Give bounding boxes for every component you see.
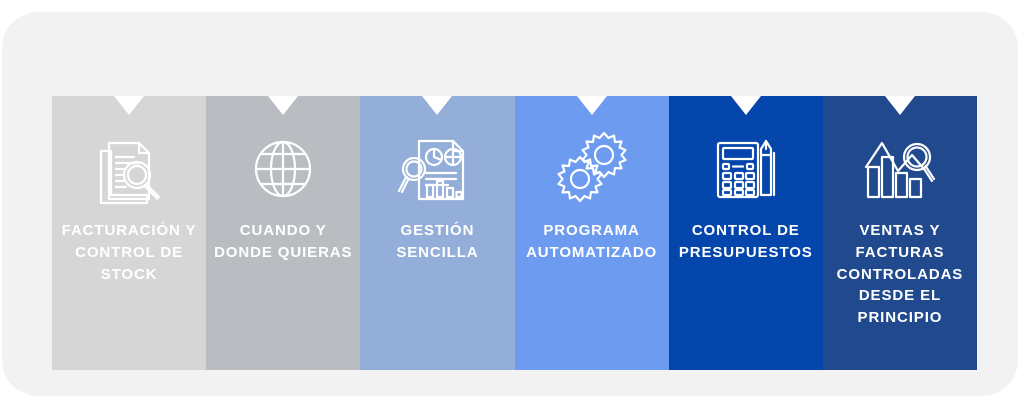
documents-magnifier-icon [86, 126, 172, 212]
infographic-card: FACTURACIÓN Y CONTROL DE STOCK CUANDO Y … [2, 12, 1018, 396]
globe-icon [240, 126, 326, 212]
feature-column-programa-automatizado[interactable]: PROGRAMA AUTOMATIZADO [515, 96, 669, 370]
column-notch [731, 96, 761, 115]
feature-label: VENTAS Y FACTURAS CONTROLADAS DESDE EL P… [823, 220, 977, 329]
feature-column-control-presupuestos[interactable]: CONTROL DE PRESUPUESTOS [669, 96, 823, 370]
calculator-pen-icon [703, 126, 789, 212]
feature-column-ventas-facturas[interactable]: VENTAS Y FACTURAS CONTROLADAS DESDE EL P… [823, 96, 977, 370]
column-notch [114, 96, 144, 115]
gears-icon [549, 126, 635, 212]
infographic-page: FACTURACIÓN Y CONTROL DE STOCK CUANDO Y … [0, 0, 1022, 419]
column-notch [885, 96, 915, 115]
feature-label: PROGRAMA AUTOMATIZADO [515, 220, 669, 264]
feature-label: FACTURACIÓN Y CONTROL DE STOCK [52, 220, 206, 285]
bar-chart-magnifier-icon [857, 126, 943, 212]
column-notch [577, 96, 607, 115]
feature-column-cuando-donde[interactable]: CUANDO Y DONDE QUIERAS [206, 96, 360, 370]
feature-label: CONTROL DE PRESUPUESTOS [669, 220, 823, 264]
column-notch [422, 96, 452, 115]
report-magnifier-icon [394, 126, 480, 212]
feature-column-facturacion[interactable]: FACTURACIÓN Y CONTROL DE STOCK [52, 96, 206, 370]
column-notch [268, 96, 298, 115]
feature-label: GESTIÓN SENCILLA [360, 220, 514, 264]
feature-label: CUANDO Y DONDE QUIERAS [206, 220, 360, 264]
feature-columns: FACTURACIÓN Y CONTROL DE STOCK CUANDO Y … [52, 96, 977, 370]
feature-column-gestion-sencilla[interactable]: GESTIÓN SENCILLA [360, 96, 514, 370]
